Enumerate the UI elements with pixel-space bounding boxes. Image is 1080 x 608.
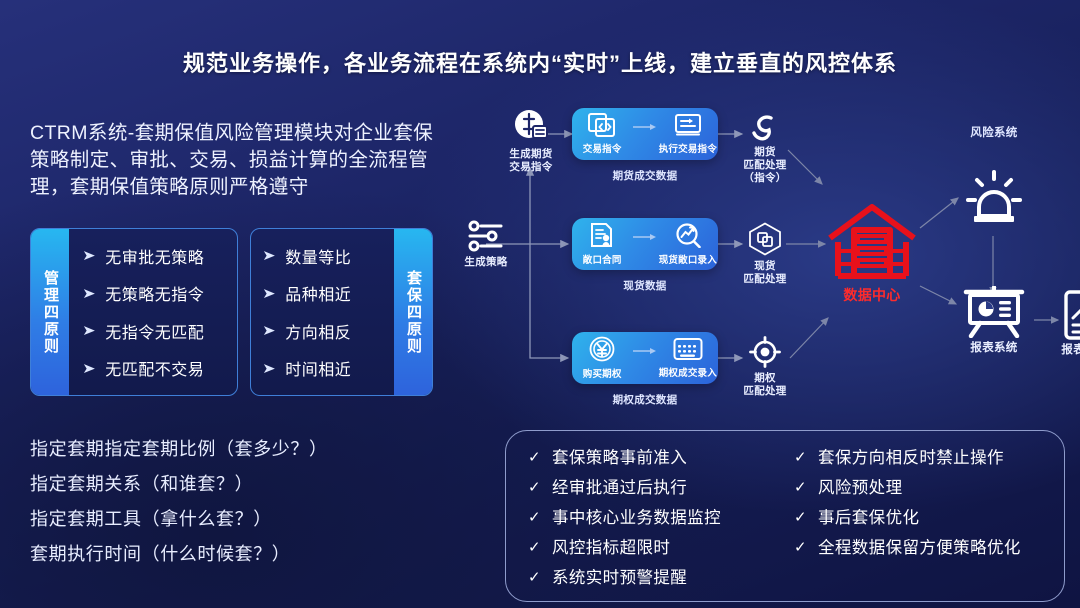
checklist-label: 经审批通过后执行 (552, 473, 687, 503)
card-spot-data[interactable]: 敞口合同 现货敞口录入 (572, 218, 718, 270)
presentation-board-icon (962, 286, 1026, 338)
card-cell-label: 交易指令 (583, 141, 622, 155)
list-item: ✓ 事中核心业务数据监控 (528, 503, 778, 533)
hexagon-layers-icon (747, 222, 783, 256)
sliders-icon (466, 220, 506, 252)
node-report-system: 报表系统 (958, 286, 1030, 355)
node-risk-system (960, 170, 1028, 226)
chevron-right-icon: ➤ (262, 322, 276, 339)
list-item: ✓ 全程数据保留方便策略优化 (794, 533, 1044, 563)
list-item: ➤ 无匹配不交易 (69, 356, 237, 380)
card-cell-label: 期权成交录入 (659, 365, 717, 379)
list-item: ➤ 无策略无指令 (69, 281, 237, 305)
checklist-label: 事后套保优化 (818, 503, 919, 533)
chevron-right-icon: ➤ (82, 360, 96, 377)
check-icon: ✓ (528, 533, 541, 563)
question-list: 指定套期指定套期比例（套多少？） 指定套期关系（和谁套？） 指定套期工具（拿什么… (30, 432, 450, 572)
management-principles-tab: 管理四原则 (31, 229, 69, 395)
list-item: ✓ 经审批通过后执行 (528, 473, 778, 503)
card-cell[interactable]: 交易指令 (572, 113, 632, 155)
list-item: ➤ 数量等比 (251, 244, 394, 268)
dollar-coin-icon (511, 108, 551, 144)
trend-magnifier-icon (674, 223, 702, 248)
contract-document-icon (589, 223, 615, 248)
node-report-display: 报表展示 (1054, 290, 1080, 357)
target-icon (749, 336, 781, 368)
checklist-label: 风控指标超限时 (552, 533, 670, 563)
yuan-coin-icon (589, 336, 615, 362)
group-label-futures: 期货成交数据 (572, 168, 718, 183)
card-option-trade-data[interactable]: 购买期权 期权成交录入 (572, 332, 718, 384)
slide-canvas: 规范业务操作，各业务流程在系统内“实时”上线，建立垂直的风控体系 CTRM系统-… (0, 0, 1080, 608)
question-line: 指定套期指定套期比例（套多少？） (30, 432, 450, 467)
question-line: 指定套期工具（拿什么套？） (30, 502, 450, 537)
list-item: ✓ 事后套保优化 (794, 503, 1044, 533)
card-inner-arrow-icon (632, 347, 657, 355)
card-cell[interactable]: 购买期权 (572, 336, 632, 380)
node-label: 现货 匹配处理 (743, 260, 786, 286)
card-cell-label: 敞口合同 (583, 252, 622, 266)
checklist-label: 全程数据保留方便策略优化 (818, 533, 1021, 563)
list-item: ✓ 风控指标超限时 (528, 533, 778, 563)
list-item: ➤ 品种相近 (251, 281, 394, 305)
node-label: 生成策略 (464, 256, 507, 269)
principle-label: 无审批无策略 (105, 244, 204, 268)
checklist-column-1: ✓ 套保策略事前准入 ✓ 经审批通过后执行 ✓ 事中核心业务数据监控 ✓ 风控指… (528, 443, 778, 591)
chevron-right-icon: ➤ (82, 285, 96, 302)
group-label-option: 期权成交数据 (572, 392, 718, 407)
management-principles-list: ➤ 无审批无策略 ➤ 无策略无指令 ➤ 无指令无匹配 ➤ 无匹配不交易 (69, 229, 237, 395)
card-cell[interactable]: 期权成交录入 (658, 337, 718, 379)
principle-label: 品种相近 (285, 281, 351, 305)
checklist-panel: ✓ 套保策略事前准入 ✓ 经审批通过后执行 ✓ 事中核心业务数据监控 ✓ 风控指… (505, 430, 1065, 602)
hedging-principles-box: ➤ 数量等比 ➤ 品种相近 ➤ 方向相反 ➤ 时间相近 套保四原则 (250, 228, 433, 396)
node-futures-matching: 期货 匹配处理 （指令） (738, 112, 792, 185)
chevron-right-icon: ➤ (262, 247, 276, 264)
checklist-label: 套保策略事前准入 (552, 443, 687, 473)
label-risk-system: 风险系统 (948, 124, 1040, 140)
alarm-siren-icon (965, 170, 1023, 226)
check-icon: ✓ (528, 563, 541, 593)
node-data-center: 数据中心 (822, 204, 922, 302)
execute-window-icon (674, 113, 702, 137)
list-item: ➤ 无指令无匹配 (69, 319, 237, 343)
management-principles-box: 管理四原则 ➤ 无审批无策略 ➤ 无策略无指令 ➤ 无指令无匹配 ➤ 无匹配不交… (30, 228, 238, 396)
checklist-label: 事中核心业务数据监控 (552, 503, 721, 533)
node-label: 报表系统 (970, 342, 1017, 355)
principle-label: 无匹配不交易 (105, 356, 204, 380)
process-flow-diagram: 生成期货 交易指令 生成策略 交易指令 (450, 108, 1080, 418)
check-icon: ✓ (528, 443, 541, 473)
principle-label: 数量等比 (285, 244, 351, 268)
principle-label: 时间相近 (285, 356, 351, 380)
card-cell-label: 执行交易指令 (659, 141, 717, 155)
check-icon: ✓ (794, 473, 807, 503)
card-futures-trade-data[interactable]: 交易指令 执行交易指令 (572, 108, 718, 160)
node-generate-futures-order: 生成期货 交易指令 (494, 108, 568, 174)
chevron-right-icon: ➤ (262, 360, 276, 377)
list-item: ✓ 系统实时预警提醒 (528, 563, 778, 593)
list-item: ✓ 套保策略事前准入 (528, 443, 778, 473)
check-icon: ✓ (794, 533, 807, 563)
data-center-icon (824, 204, 920, 284)
group-label-spot: 现货数据 (572, 278, 718, 293)
check-icon: ✓ (528, 473, 541, 503)
swirl-loop-icon (747, 112, 783, 142)
node-label: 期权 匹配处理 (743, 372, 786, 398)
question-line: 套期执行时间（什么时候套？） (30, 537, 450, 572)
card-cell-label: 购买期权 (583, 366, 622, 380)
card-cell[interactable]: 现货敞口录入 (658, 223, 718, 266)
checklist-label: 系统实时预警提醒 (552, 563, 687, 593)
intro-paragraph: CTRM系统-套期保值风险管理模块对企业套保策略制定、审批、交易、损益计算的全流… (30, 120, 440, 201)
code-window-icon (588, 113, 616, 137)
node-label: 报表展示 (1061, 344, 1080, 357)
chevron-right-icon: ➤ (82, 247, 96, 264)
keyboard-entry-icon (673, 337, 703, 361)
chevron-right-icon: ➤ (262, 285, 276, 302)
checklist-label: 套保方向相反时禁止操作 (818, 443, 1004, 473)
hedging-principles-tab: 套保四原则 (394, 229, 432, 395)
list-item: ➤ 方向相反 (251, 319, 394, 343)
node-spot-matching: 现货 匹配处理 (740, 222, 790, 286)
node-generate-strategy: 生成策略 (450, 220, 522, 269)
principle-label: 无策略无指令 (105, 281, 204, 305)
principle-label: 无指令无匹配 (105, 319, 204, 343)
card-inner-arrow-icon (632, 233, 657, 241)
question-line: 指定套期关系（和谁套？） (30, 467, 450, 502)
check-icon: ✓ (794, 503, 807, 533)
card-cell[interactable]: 敞口合同 (572, 223, 632, 266)
list-item: ➤ 无审批无策略 (69, 244, 237, 268)
hedging-principles-list: ➤ 数量等比 ➤ 品种相近 ➤ 方向相反 ➤ 时间相近 (251, 229, 394, 395)
list-item: ➤ 时间相近 (251, 356, 394, 380)
check-icon: ✓ (794, 443, 807, 473)
card-cell-label: 现货敞口录入 (659, 252, 717, 266)
node-label: 数据中心 (843, 289, 900, 302)
card-cell[interactable]: 执行交易指令 (658, 113, 718, 155)
checklist-column-2: ✓ 套保方向相反时禁止操作 ✓ 风险预处理 ✓ 事后套保优化 ✓ 全程数据保留方… (778, 443, 1044, 591)
check-icon: ✓ (528, 503, 541, 533)
checklist-label: 风险预处理 (818, 473, 903, 503)
chart-document-icon (1064, 290, 1080, 340)
list-item: ✓ 套保方向相反时禁止操作 (794, 443, 1044, 473)
principle-label: 方向相反 (285, 319, 351, 343)
chevron-right-icon: ➤ (82, 322, 96, 339)
card-inner-arrow-icon (632, 123, 657, 131)
page-title: 规范业务操作，各业务流程在系统内“实时”上线，建立垂直的风控体系 (0, 46, 1080, 78)
node-label: 生成期货 交易指令 (509, 148, 552, 174)
node-label: 期货 匹配处理 （指令） (743, 146, 786, 185)
list-item: ✓ 风险预处理 (794, 473, 1044, 503)
node-option-matching: 期权 匹配处理 (740, 336, 790, 398)
